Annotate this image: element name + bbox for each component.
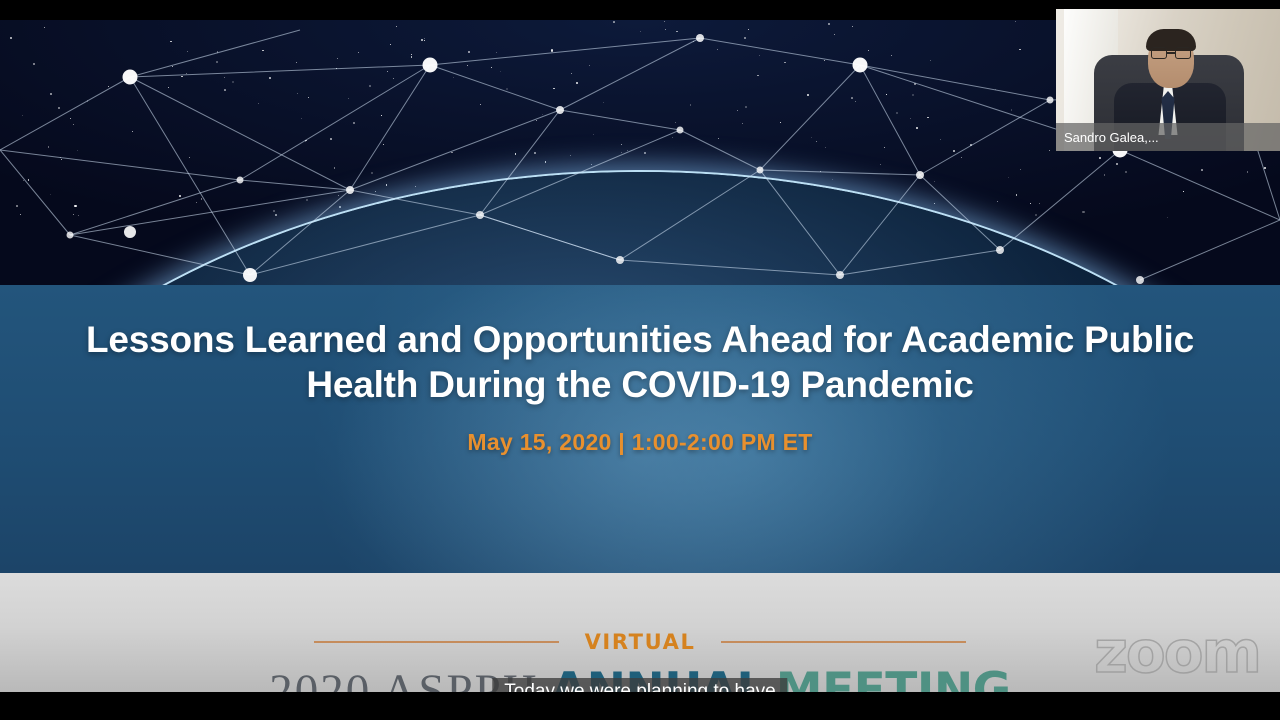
slide-date-time: May 15, 2020 | 1:00-2:00 PM ET	[0, 429, 1280, 456]
eyeglasses-icon	[1151, 47, 1191, 59]
slide-title-line-2: Health During the COVID-19 Pandemic	[0, 362, 1280, 407]
logo-meeting: MEETING	[776, 663, 1011, 692]
title-band: Lessons Learned and Opportunities Ahead …	[0, 285, 1280, 573]
slide-footer: zoom VIRTUAL 2020 ASPPH ANNUAL MEETING	[0, 573, 1280, 692]
participant-video-thumbnail[interactable]: Sandro Galea,...	[1056, 9, 1280, 151]
virtual-rule-left	[314, 641, 559, 643]
participant-name-label: Sandro Galea,...	[1056, 123, 1280, 151]
virtual-banner: VIRTUAL	[0, 630, 1280, 654]
slide-title: Lessons Learned and Opportunities Ahead …	[0, 317, 1280, 407]
slide-title-line-1: Lessons Learned and Opportunities Ahead …	[0, 317, 1280, 362]
virtual-label: VIRTUAL	[585, 630, 696, 654]
zoom-screen-share-view: Lessons Learned and Opportunities Ahead …	[0, 0, 1280, 720]
letterbox-bottom	[0, 692, 1280, 720]
virtual-rule-right	[721, 641, 966, 643]
